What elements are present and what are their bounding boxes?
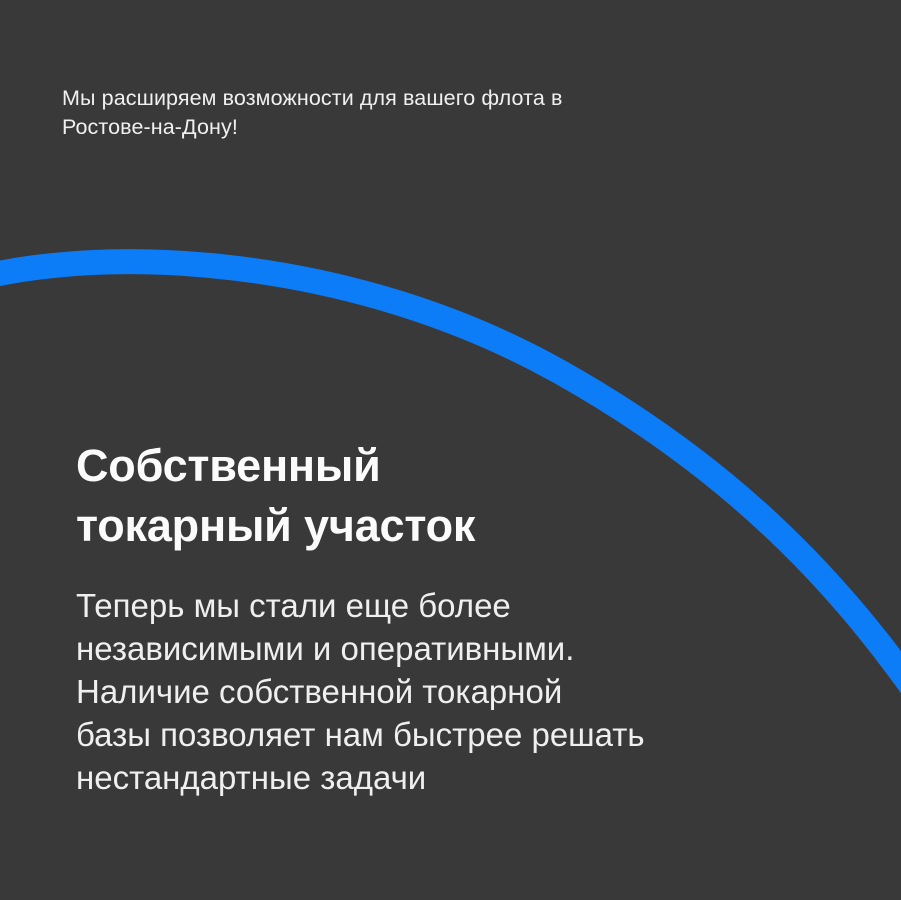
headline-line-1: Собственный	[76, 436, 776, 496]
body-line-1: Теперь мы стали еще более	[76, 584, 836, 627]
headline-line-2: токарный участок	[76, 496, 776, 556]
body-text: Теперь мы стали еще более независимыми и…	[76, 584, 836, 799]
promo-card: Мы расширяем возможности для вашего флот…	[0, 0, 901, 900]
body-line-4: базы позволяет нам быстрее решать	[76, 713, 836, 756]
body-line-3: Наличие собственной токарной	[76, 670, 836, 713]
body-line-2: независимыми и оперативными.	[76, 627, 836, 670]
kicker-text: Мы расширяем возможности для вашего флот…	[62, 84, 722, 142]
kicker-line-2: Ростове-на-Дону!	[62, 113, 722, 142]
kicker-line-1: Мы расширяем возможности для вашего флот…	[62, 84, 722, 113]
body-line-5: нестандартные задачи	[76, 756, 836, 799]
page-title: Собственный токарный участок	[76, 436, 776, 556]
